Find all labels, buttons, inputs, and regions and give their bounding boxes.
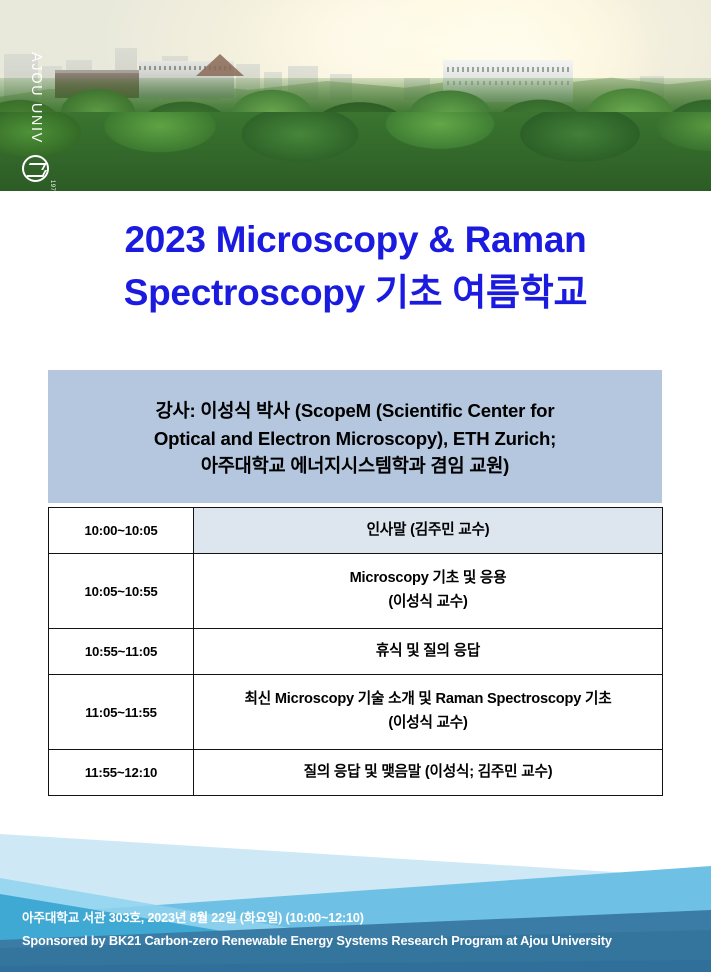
poster-page: AJOU UNIV 1973 2023 Microscopy & Raman S… [0, 0, 711, 972]
schedule-time-cell: 10:05~10:55 [49, 554, 194, 629]
schedule-desc-line-2: (이성식 교수) [388, 715, 467, 731]
schedule-desc-cell: Microscopy 기초 및 응용 (이성식 교수) [194, 554, 663, 629]
schedule-desc-line-1: 인사말 (김주민 교수) [367, 522, 490, 538]
footer-sponsor: Sponsored by BK21 Carbon-zero Renewable … [22, 930, 612, 952]
schedule-desc-cell: 질의 응답 및 맺음말 (이성식; 김주민 교수) [194, 750, 663, 796]
schedule-time-cell: 10:00~10:05 [49, 508, 194, 554]
footer-venue-datetime: 아주대학교 서관 303호, 2023년 8월 22일 (화요일) (10:00… [22, 908, 612, 930]
schedule-desc-line-2: (이성식 교수) [388, 594, 467, 610]
ajou-university-logo: AJOU UNIV 1973 [18, 42, 52, 182]
table-row: 10:00~10:05 인사말 (김주민 교수) [49, 508, 663, 554]
pagoda-roof [196, 54, 244, 76]
title-line-2: Spectroscopy 기초 여름학교 [124, 272, 588, 313]
schedule-desc-line-1: 질의 응답 및 맺음말 (이성식; 김주민 교수) [304, 764, 553, 780]
instructor-text: 강사: 이성식 박사 (ScopeM (Scientific Center fo… [154, 397, 556, 480]
schedule-table: 10:00~10:05 인사말 (김주민 교수) 10:05~10:55 Mic… [48, 507, 663, 796]
schedule-desc-cell: 휴식 및 질의 응답 [194, 629, 663, 675]
schedule-time-cell: 11:05~11:55 [49, 675, 194, 750]
table-row: 10:55~11:05 휴식 및 질의 응답 [49, 629, 663, 675]
footer-banner: 아주대학교 서관 303호, 2023년 8월 22일 (화요일) (10:00… [0, 820, 711, 972]
logo-wordmark: AJOU UNIV [28, 34, 44, 162]
title-line-1: 2023 Microscopy & Raman [125, 219, 587, 260]
instructor-info-box: 강사: 이성식 박사 (ScopeM (Scientific Center fo… [48, 370, 662, 503]
table-row: 11:55~12:10 질의 응답 및 맺음말 (이성식; 김주민 교수) [49, 750, 663, 796]
poster-title: 2023 Microscopy & Raman Spectroscopy 기초 … [0, 214, 711, 319]
footer-text-block: 아주대학교 서관 303호, 2023년 8월 22일 (화요일) (10:00… [22, 908, 612, 952]
instructor-line-1: 강사: 이성식 박사 (ScopeM (Scientific Center fo… [156, 400, 555, 421]
schedule-desc-line-1: 휴식 및 질의 응답 [376, 643, 480, 659]
instructor-line-2: Optical and Electron Microscopy), ETH Zu… [154, 428, 556, 449]
schedule-desc-line-1: Microscopy 기초 및 응용 [350, 570, 507, 586]
schedule-time-cell: 11:55~12:10 [49, 750, 194, 796]
header-campus-photo: AJOU UNIV 1973 [0, 0, 711, 191]
tree-canopy-front [0, 112, 711, 191]
schedule-time-cell: 10:55~11:05 [49, 629, 194, 675]
table-row: 11:05~11:55 최신 Microscopy 기술 소개 및 Raman … [49, 675, 663, 750]
schedule-desc-line-1: 최신 Microscopy 기술 소개 및 Raman Spectroscopy… [245, 691, 612, 707]
table-row: 10:05~10:55 Microscopy 기초 및 응용 (이성식 교수) [49, 554, 663, 629]
logo-year-label: 1973 [49, 180, 55, 191]
instructor-line-3: 아주대학교 에너지시스템학과 겸임 교원) [201, 455, 509, 476]
schedule-desc-cell: 최신 Microscopy 기술 소개 및 Raman Spectroscopy… [194, 675, 663, 750]
schedule-desc-cell: 인사말 (김주민 교수) [194, 508, 663, 554]
ajou-emblem-icon [22, 155, 49, 182]
